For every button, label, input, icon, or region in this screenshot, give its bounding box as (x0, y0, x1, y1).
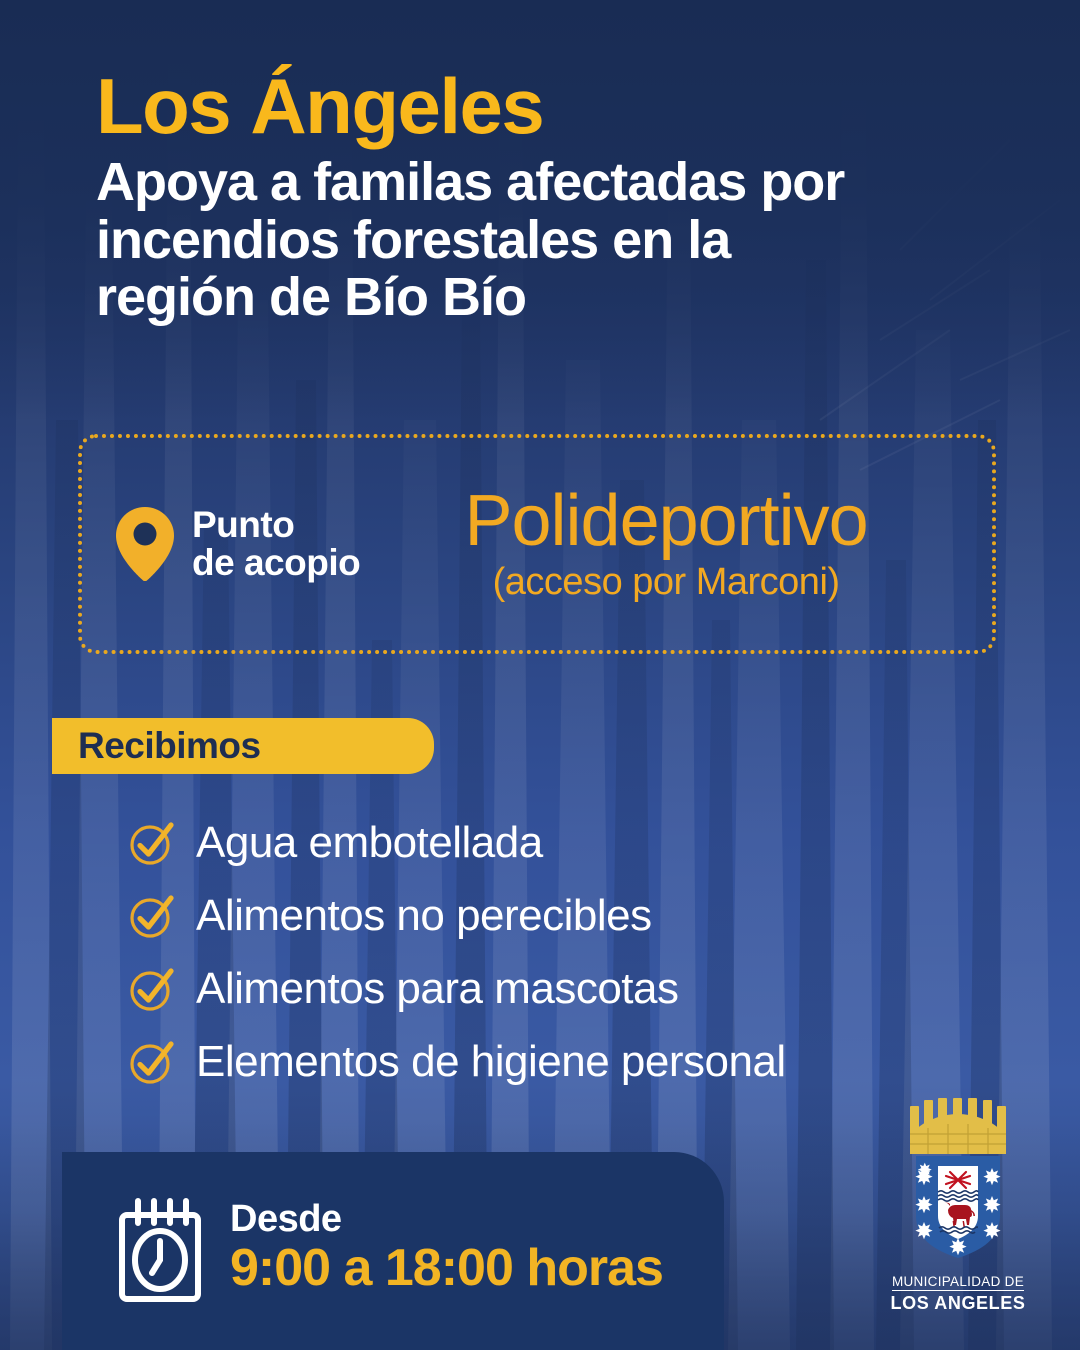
tagline-line-1: Apoya a familas afectadas por (96, 154, 1016, 211)
list-item-label: Agua embotellada (196, 818, 543, 868)
municipal-coat-of-arms-icon (888, 1098, 1028, 1266)
tagline: Apoya a familas afectadas por incendios … (96, 154, 1016, 326)
dropoff-place-name: Polideportivo (374, 485, 958, 557)
city-title: Los Ángeles (96, 68, 1016, 144)
header: Los Ángeles Apoya a familas afectadas po… (96, 68, 1016, 326)
dropoff-label: Punto de acopio (192, 506, 360, 583)
check-circle-icon (128, 1039, 174, 1085)
schedule-bar: Desde 9:00 a 18:00 horas (62, 1152, 724, 1350)
list-item: Alimentos para mascotas (128, 952, 1028, 1025)
list-item-label: Alimentos no perecibles (196, 891, 652, 941)
dropoff-label-line-2: de acopio (192, 544, 360, 582)
dropoff-place-note: (acceso por Marconi) (374, 561, 958, 604)
dropoff-label-line-1: Punto (192, 506, 360, 544)
logo-line-1: MUNICIPALIDAD DE (892, 1274, 1024, 1291)
list-item: Elementos de higiene personal (128, 1025, 1028, 1098)
list-item: Alimentos no perecibles (128, 879, 1028, 952)
calendar-clock-icon (116, 1197, 204, 1305)
list-item-label: Alimentos para mascotas (196, 964, 679, 1014)
check-circle-icon (128, 893, 174, 939)
dropoff-point-box: Punto de acopio Polideportivo (acceso po… (78, 434, 996, 654)
municipal-logo: MUNICIPALIDAD DE LOS ANGELES (862, 1098, 1054, 1314)
list-item: Agua embotellada (128, 806, 1028, 879)
receiving-banner-label: Recibimos (78, 725, 261, 767)
receiving-banner: Recibimos (52, 718, 434, 774)
tagline-line-2: incendios forestales en la (96, 212, 1016, 269)
logo-line-2: LOS ANGELES (862, 1293, 1054, 1314)
dropoff-place-wrap: Polideportivo (acceso por Marconi) (374, 485, 958, 604)
list-item-label: Elementos de higiene personal (196, 1037, 786, 1087)
schedule-prefix: Desde (230, 1200, 663, 1240)
check-circle-icon (128, 966, 174, 1012)
receiving-items-list: Agua embotellada Alimentos no perecibles… (128, 806, 1028, 1098)
schedule-text: Desde 9:00 a 18:00 horas (230, 1200, 663, 1296)
tagline-line-3: región de Bío Bío (96, 269, 1016, 326)
location-pin-icon (116, 507, 174, 581)
check-circle-icon (128, 820, 174, 866)
poster-canvas: Los Ángeles Apoya a familas afectadas po… (0, 0, 1080, 1350)
schedule-hours: 9:00 a 18:00 horas (230, 1240, 663, 1296)
